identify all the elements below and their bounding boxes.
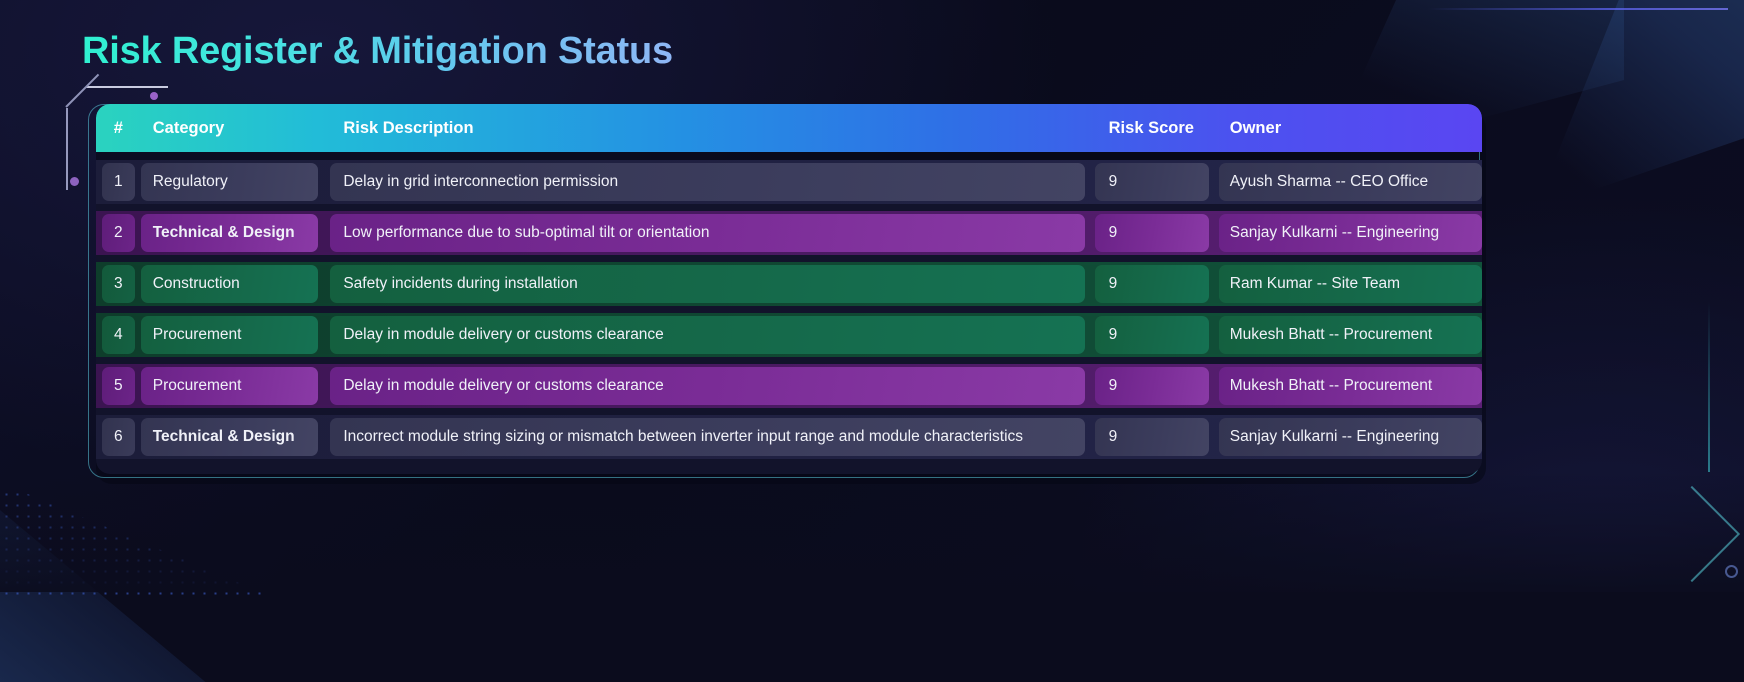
page-title: Risk Register & Mitigation Status xyxy=(82,30,673,73)
cell-category: Technical & Design xyxy=(141,418,319,456)
decor-accent-line-bottom-right xyxy=(1708,302,1710,472)
cell-owner: Mukesh Bhatt -- Procurement xyxy=(1219,316,1482,354)
cell-risk-score: 9 xyxy=(1095,367,1209,405)
cell-risk-score: 9 xyxy=(1095,265,1209,303)
decor-bottom-sheen xyxy=(0,472,1744,592)
cell-risk-score: 9 xyxy=(1095,163,1209,201)
cell-description: Delay in module delivery or customs clea… xyxy=(330,367,1084,405)
cell-category: Procurement xyxy=(141,367,319,405)
cell-risk-score: 9 xyxy=(1095,316,1209,354)
decor-dot-violet-left xyxy=(70,177,79,186)
cell-description: Safety incidents during installation xyxy=(330,265,1084,303)
cell-owner: Ayush Sharma -- CEO Office xyxy=(1219,163,1482,201)
table-row[interactable]: 5 Procurement Delay in module delivery o… xyxy=(96,364,1482,408)
cell-risk-score: 9 xyxy=(1095,214,1209,252)
cell-owner: Ram Kumar -- Site Team xyxy=(1219,265,1482,303)
column-header-category[interactable]: Category xyxy=(141,119,319,138)
table-body: 1 Regulatory Delay in grid interconnecti… xyxy=(96,160,1482,474)
decor-bracket-horizontal xyxy=(86,86,168,88)
column-header-index[interactable]: # xyxy=(102,119,135,138)
cell-risk-score: 9 xyxy=(1095,418,1209,456)
cell-category: Construction xyxy=(141,265,319,303)
cell-index: 6 xyxy=(102,418,135,456)
table-row[interactable]: 4 Procurement Delay in module delivery o… xyxy=(96,313,1482,357)
cell-index: 5 xyxy=(102,367,135,405)
cell-owner: Mukesh Bhatt -- Procurement xyxy=(1219,367,1482,405)
table-header-row: # Category Risk Description Risk Score O… xyxy=(96,104,1482,152)
cell-category: Procurement xyxy=(141,316,319,354)
table-row[interactable]: 3 Construction Safety incidents during i… xyxy=(96,262,1482,306)
decor-dot-bottom-right xyxy=(1725,565,1738,578)
column-header-description[interactable]: Risk Description xyxy=(330,119,1084,138)
table-row[interactable]: 1 Regulatory Delay in grid interconnecti… xyxy=(96,160,1482,204)
risk-register-table: # Category Risk Description Risk Score O… xyxy=(96,104,1482,474)
column-header-owner[interactable]: Owner xyxy=(1219,119,1482,138)
cell-category: Regulatory xyxy=(141,163,319,201)
cell-index: 1 xyxy=(102,163,135,201)
cell-description: Low performance due to sub-optimal tilt … xyxy=(330,214,1084,252)
cell-index: 3 xyxy=(102,265,135,303)
cell-owner: Sanjay Kulkarni -- Engineering xyxy=(1219,214,1482,252)
decor-accent-line-top-right xyxy=(1428,8,1728,10)
decor-dot-violet-top xyxy=(150,92,158,100)
cell-description: Delay in grid interconnection permission xyxy=(330,163,1084,201)
column-header-risk-score[interactable]: Risk Score xyxy=(1095,119,1209,138)
cell-description: Incorrect module string sizing or mismat… xyxy=(330,418,1084,456)
cell-owner: Sanjay Kulkarni -- Engineering xyxy=(1219,418,1482,456)
table-row[interactable]: 6 Technical & Design Incorrect module st… xyxy=(96,415,1482,459)
decor-bracket-vertical xyxy=(66,108,68,190)
cell-category: Technical & Design xyxy=(141,214,319,252)
cell-description: Delay in module delivery or customs clea… xyxy=(330,316,1084,354)
table-row[interactable]: 2 Technical & Design Low performance due… xyxy=(96,211,1482,255)
cell-index: 4 xyxy=(102,316,135,354)
cell-index: 2 xyxy=(102,214,135,252)
